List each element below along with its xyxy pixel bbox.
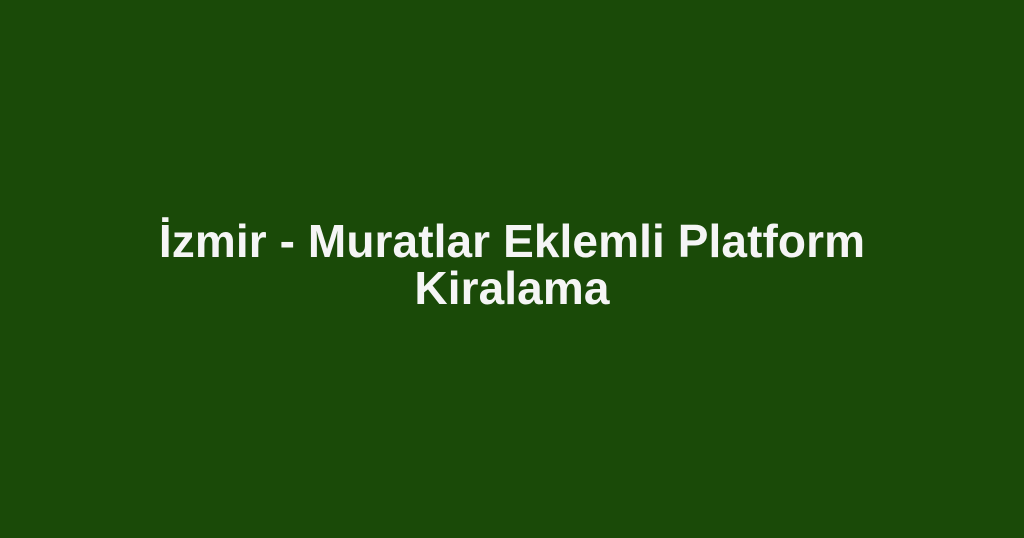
card-content: İzmir - Muratlar Eklemli Platform Kirala… — [0, 218, 1024, 312]
share-card: İzmir - Muratlar Eklemli Platform Kirala… — [0, 0, 1024, 538]
page-title: İzmir - Muratlar Eklemli Platform Kirala… — [150, 218, 874, 312]
